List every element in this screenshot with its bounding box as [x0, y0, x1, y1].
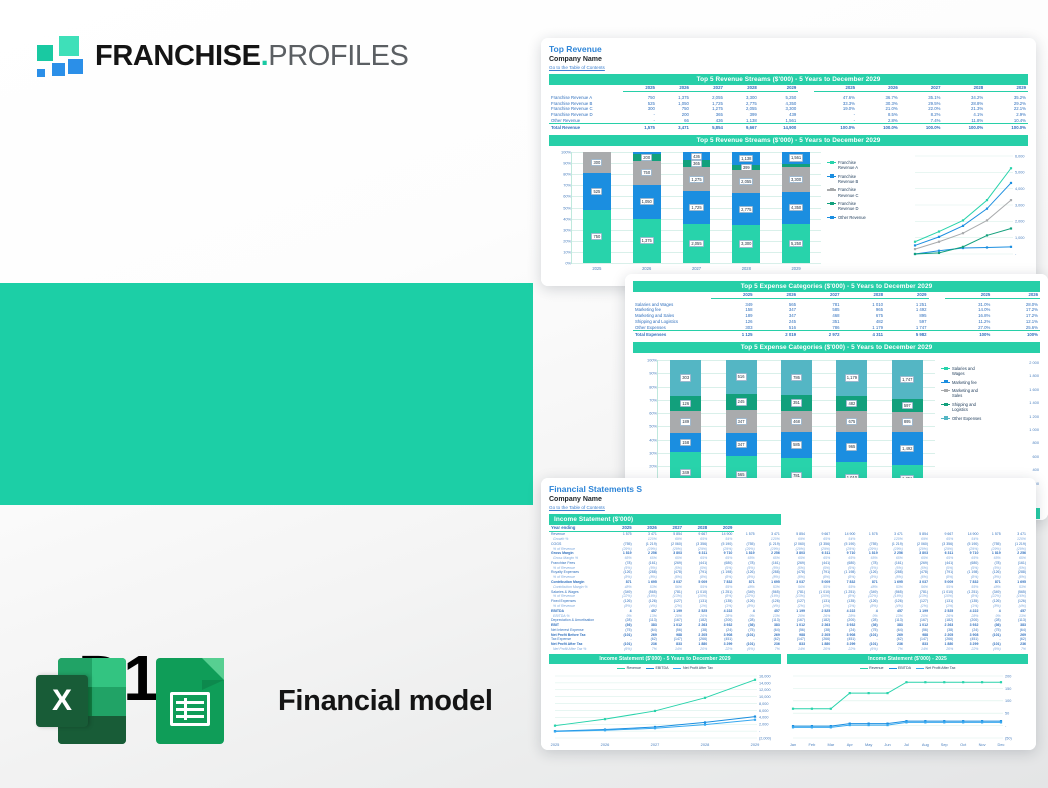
y-axis-tick: 60%: [557, 194, 571, 199]
legend-label: Other Revenue: [838, 215, 866, 220]
table-cell: 14%: [782, 647, 807, 652]
y-axis-tick: 70%: [557, 183, 571, 188]
bar-segment: 436: [683, 152, 711, 160]
x-axis-tick: 2026: [601, 742, 610, 747]
bar-stack: 4363651,2751,7252,055: [683, 152, 711, 263]
x-axis-tick: 2029: [751, 742, 760, 747]
line-marker: [554, 731, 556, 733]
y-axis-tick: 1 400: [1013, 400, 1039, 405]
bar-segment: 2,775: [732, 193, 760, 225]
bar-data-label: 126: [680, 400, 691, 407]
bar-segment: 303: [670, 360, 701, 396]
x-axis-tick: Mar: [827, 742, 834, 747]
y-axis-tick: 40%: [557, 216, 571, 221]
line-marker: [754, 679, 756, 681]
bar-segment: 189: [670, 411, 701, 433]
x-axis-tick: 2029: [771, 266, 821, 271]
expenses-chart-legend: Salaries and WagesMarketing feeMarketing…: [941, 366, 984, 424]
line-marker: [754, 716, 756, 718]
y-axis-tick: 20%: [557, 238, 571, 243]
y-axis-tick: 6,000: [759, 709, 769, 713]
legend-marker: [673, 668, 681, 669]
bar-segment: 4,350: [782, 192, 810, 224]
legend-item: Marketing fee: [941, 380, 984, 385]
bar-data-label: 1,375: [640, 237, 654, 244]
bar-segment: 786: [781, 360, 812, 395]
legend-marker: [827, 174, 836, 179]
line-series: [555, 680, 755, 726]
x-axis-tick: 2025: [572, 266, 622, 271]
y-axis-tick: 14,000: [759, 682, 771, 686]
y-axis-tick: 16,000: [759, 675, 771, 679]
line-marker: [962, 225, 964, 227]
bar-data-label: 189: [680, 418, 691, 425]
table-cell: (6%): [611, 647, 634, 652]
y-axis-tick: 70%: [643, 397, 657, 402]
y-axis-tick: 10,000: [759, 695, 771, 699]
bar-data-label: 3,300: [739, 240, 753, 247]
bar-segment: 300: [583, 152, 611, 173]
y-axis-tick: 400: [1013, 467, 1039, 472]
bar-segment: 365: [683, 160, 711, 167]
financials-right-chart-legend: RevenueEBITDANet Profit After Tax: [787, 666, 1028, 670]
bar-segment: 347: [726, 410, 757, 433]
table-cell: 20%: [807, 647, 832, 652]
bar-data-label: 1,050: [640, 198, 654, 205]
legend-item: Salaries and Wages: [941, 366, 984, 376]
bar-data-label: 750: [641, 169, 652, 176]
bar-data-label: 4,350: [789, 204, 803, 211]
line-marker: [986, 246, 988, 248]
bar-segment: 482: [836, 396, 867, 411]
table-cell: 7%: [880, 647, 905, 652]
legend-item: Net Profit After Tax: [673, 666, 712, 670]
legend-item: Franchise Revenue C: [827, 187, 870, 197]
y-axis-tick: 2,000: [759, 723, 769, 727]
bar-segment: 1,375: [633, 219, 661, 263]
line-series: [915, 200, 1011, 249]
financials-sheet-title: Financial Statements S: [549, 484, 1028, 495]
line-series: [793, 683, 1001, 710]
bar-segment: 1,179: [836, 360, 867, 396]
line-marker: [905, 722, 907, 724]
y-axis-tick: 2,000: [1015, 220, 1025, 224]
bar-segment: 351: [781, 395, 812, 411]
line-chart-canvas: -1,0002,0003,0004,0005,0006,000: [899, 152, 1031, 264]
line-marker: [943, 722, 945, 724]
expenses-table: 20252026 20272028 2029 20252026 Salaries…: [633, 292, 1040, 337]
bar-data-label: 482: [846, 400, 857, 407]
line-marker: [938, 250, 940, 252]
bar-data-label: 1,725: [689, 204, 703, 211]
y-axis-tick: 150: [1005, 687, 1011, 691]
financials-left-chart-region: Income Statement ($'000) - 5 Years to De…: [549, 654, 781, 748]
line-marker: [914, 253, 916, 255]
microsoft-excel-icon: X: [36, 658, 126, 744]
line-chart-canvas: (50)-50100150200JanFebMarAprMayJunJulAug…: [787, 672, 1023, 748]
table-cell: 7%: [1003, 647, 1028, 652]
y-axis-tick: (50): [1005, 737, 1012, 741]
bar-segment: 750: [583, 210, 611, 263]
bar-data-label: 1,138: [739, 155, 753, 162]
bar-data-label: 2,055: [739, 178, 753, 185]
line-marker: [849, 724, 851, 726]
revenue-charts-region: 100%90%80%70%60%50%40%30%20%10%0%3005257…: [549, 150, 1028, 276]
bar-data-label: 1,561: [789, 154, 803, 161]
legend-label: Net Profit After Tax: [925, 666, 955, 670]
legend-label: Revenue: [869, 666, 883, 670]
line-marker: [830, 727, 832, 729]
bar-data-label: 525: [591, 188, 602, 195]
line-marker: [886, 692, 888, 694]
legend-marker: [860, 668, 868, 669]
legend-item: Franchise Revenue B: [827, 174, 870, 184]
legend-label: Franchise Revenue D: [838, 201, 870, 211]
y-axis-tick: 200: [1005, 675, 1011, 679]
legend-marker: [646, 668, 654, 669]
line-marker: [924, 722, 926, 724]
bar-segment: 965: [836, 432, 867, 462]
bar-data-label: 347: [736, 441, 747, 448]
line-marker: [981, 722, 983, 724]
line-marker: [704, 697, 706, 699]
bar-data-label: 245: [736, 398, 747, 405]
line-marker: [1010, 246, 1012, 248]
bar-segment: 1,725: [683, 191, 711, 224]
y-axis-tick: 80%: [643, 384, 657, 389]
bar-segment: 347: [726, 433, 757, 456]
x-axis-tick: Jan: [790, 742, 796, 747]
line-marker: [868, 724, 870, 726]
bar-data-label: 750: [591, 233, 602, 240]
logo-square-blue-small: [37, 69, 45, 77]
bar-stack: 1,1794826759651,010: [836, 360, 867, 493]
y-axis-tick: 30%: [557, 227, 571, 232]
legend-item: EBITDA: [646, 666, 668, 670]
bar-data-label: 158: [680, 439, 691, 446]
line-marker: [554, 725, 556, 727]
bar-data-label: 3,300: [789, 176, 803, 183]
logo-square-teal-top: [59, 36, 79, 56]
bar-segment: 5,250: [782, 224, 810, 263]
bar-segment: 2,055: [683, 224, 711, 263]
revenue-stacked-bar-chart: 100%90%80%70%60%50%40%30%20%10%0%3005257…: [571, 152, 821, 264]
table-cell: 7%: [634, 647, 659, 652]
revenue-toc-link[interactable]: Go to the Table of Contents: [549, 64, 1028, 71]
row-label: Net Profit After Tax %: [549, 647, 611, 652]
x-axis-tick: 2028: [721, 266, 771, 271]
legend-marker: [889, 668, 897, 669]
line-marker: [830, 708, 832, 710]
legend-item: Net Profit After Tax: [916, 666, 955, 670]
table-cell: 20%: [684, 647, 709, 652]
bar-data-label: 675: [846, 418, 857, 425]
table-cell: 7%: [757, 647, 782, 652]
line-marker: [938, 230, 940, 232]
bar-data-label: 1,492: [900, 445, 914, 452]
squares-logo-icon: [33, 33, 89, 79]
legend-label: Revenue: [627, 666, 641, 670]
financials-sheet-card[interactable]: Financial Statements S Company Name Go t…: [541, 478, 1036, 750]
legend-marker: [941, 416, 950, 421]
line-marker: [1010, 199, 1012, 201]
financials-left-chart-banner: Income Statement ($'000) - 5 Years to De…: [549, 654, 781, 664]
y-axis-tick: 50%: [643, 424, 657, 429]
expenses-chart-banner: Top 5 Expense Categories ($'000) - 5 Yea…: [633, 342, 1040, 353]
financials-left-line-chart: (2,000)-2,0004,0006,0008,00010,00012,000…: [549, 672, 781, 748]
y-axis-tick: 90%: [643, 371, 657, 376]
legend-marker: [827, 215, 836, 220]
y-axis-tick: -: [1015, 252, 1017, 256]
table-cell: 22%: [832, 647, 857, 652]
legend-item: Revenue: [860, 666, 884, 670]
y-axis-tick: 100: [1005, 700, 1011, 704]
bar-segment: 1,747: [892, 360, 923, 399]
y-axis-tick: 0%: [557, 261, 571, 266]
table-cell: (6%): [980, 647, 1002, 652]
revenue-line-chart: -1,0002,0003,0004,0005,0006,000: [899, 152, 1031, 264]
financials-left-chart-legend: RevenueEBITDANet Profit After Tax: [549, 666, 781, 670]
gridline: [572, 263, 821, 264]
bar-stack: 300525750: [583, 152, 611, 263]
brand-name-strong: FRANCHISE: [95, 40, 261, 72]
revenue-chart-banner: Top 5 Revenue Streams ($'000) - 5 Years …: [549, 135, 1028, 146]
line-marker: [849, 692, 851, 694]
bar-segment: 1,561: [782, 152, 810, 164]
x-axis-tick: 2027: [672, 266, 722, 271]
y-axis-tick: 4,000: [1015, 187, 1025, 191]
x-axis-tick: Sep: [941, 742, 948, 747]
line-marker: [914, 248, 916, 250]
expenses-table-banner: Top 5 Expense Categories ($'000) - 5 Yea…: [633, 281, 1040, 292]
footer-format-row: X Financial model: [36, 658, 493, 744]
bar-data-label: 2,775: [739, 206, 753, 213]
legend-label: EBITDA: [898, 666, 911, 670]
logo-square-teal-left: [37, 45, 53, 61]
brand-logo: FRANCHISE.PROFILES: [33, 33, 413, 79]
bar-stack: 1,5613,3004,3505,250: [782, 152, 810, 263]
legend-marker: [941, 388, 950, 393]
bar-segment: 895: [892, 412, 923, 432]
x-axis-tick: Jun: [884, 742, 890, 747]
y-axis-tick: 5,000: [1015, 171, 1025, 175]
y-axis-tick: 600: [1013, 454, 1039, 459]
bar-data-label: 347: [736, 418, 747, 425]
line-marker: [792, 727, 794, 729]
line-marker: [811, 708, 813, 710]
legend-marker: [941, 366, 950, 371]
bar-segment: 525: [583, 173, 611, 210]
legend-marker: [827, 187, 836, 192]
line-marker: [654, 710, 656, 712]
y-axis-tick: 3,000: [1015, 203, 1025, 207]
y-axis-tick: 2 000: [1013, 360, 1039, 365]
table-cell: 14%: [659, 647, 684, 652]
line-marker: [986, 199, 988, 201]
table-total-row: Total Expenses 1 1252 019 2 9724 311 5 9…: [633, 331, 1040, 337]
legend-label: Franchise Revenue B: [838, 174, 870, 184]
x-axis-tick: May: [865, 742, 872, 747]
bar-data-label: 349: [680, 469, 691, 476]
line-marker: [943, 681, 945, 683]
y-axis-tick: 1 000: [1013, 427, 1039, 432]
legend-item: Shipping and Logistics: [941, 402, 984, 412]
line-marker: [1000, 681, 1002, 683]
legend-marker: [617, 668, 625, 669]
x-axis-tick: 2025: [551, 742, 560, 747]
bar-data-label: 585: [791, 441, 802, 448]
line-marker: [962, 246, 964, 248]
bar-data-label: 2,055: [689, 240, 703, 247]
revenue-table-banner: Top 5 Revenue Streams ($'000) - 5 Years …: [549, 74, 1028, 85]
x-axis-tick: Apr: [847, 742, 854, 747]
financials-table-banner: Income Statement ($'000): [549, 514, 781, 525]
line-marker: [938, 252, 940, 254]
legend-marker: [941, 380, 950, 385]
financials-company-name: Company Name: [549, 495, 1028, 504]
revenue-sheet-card[interactable]: Top Revenue Company Name Go to the Table…: [541, 38, 1036, 286]
line-marker: [962, 722, 964, 724]
line-marker: [986, 234, 988, 236]
logo-square-blue-right: [68, 59, 83, 74]
bar-data-label: 1,179: [845, 374, 859, 381]
table-cell: (6%): [734, 647, 756, 652]
financials-right-chart-region: Income Statement ($'000) - 2025 RevenueE…: [787, 654, 1028, 748]
x-axis-tick: Oct: [960, 742, 967, 747]
bar-segment: 1,275: [683, 167, 711, 191]
legend-label: EBITDA: [656, 666, 669, 670]
table-cell: 14%: [905, 647, 930, 652]
line-marker: [914, 241, 916, 243]
y-axis-tick: (2,000): [759, 737, 772, 741]
y-axis-tick: 10%: [557, 249, 571, 254]
y-axis-tick: 6,000: [1015, 154, 1025, 158]
line-marker: [986, 219, 988, 221]
x-axis-tick: Dec: [998, 742, 1005, 747]
line-marker: [868, 692, 870, 694]
revenue-company-name: Company Name: [549, 55, 1028, 64]
line-chart-canvas: (2,000)-2,0004,0006,0008,00010,00012,000…: [549, 672, 781, 748]
bar-stack: 303126189158349: [670, 360, 701, 493]
legend-label: Franchise Revenue A: [838, 160, 870, 170]
revenue-sheet-title: Top Revenue: [549, 44, 1028, 55]
bar-segment: 2,055: [732, 170, 760, 194]
line-marker: [924, 681, 926, 683]
line-marker: [1010, 182, 1012, 184]
legend-marker: [827, 201, 836, 206]
bar-stack: 1,7475978951,4921,251: [892, 360, 923, 493]
excel-x-glyph: X: [52, 686, 72, 716]
y-axis-tick: -: [759, 730, 761, 734]
bar-data-label: 1,275: [689, 176, 703, 183]
legend-label: Shipping and Logistics: [952, 402, 984, 412]
legend-item: Marketing and Sales: [941, 388, 984, 398]
x-axis-tick: Jul: [904, 742, 909, 747]
bar-stack: 516245347347565: [726, 360, 757, 493]
y-axis-tick: 30%: [643, 451, 657, 456]
google-sheets-icon: [150, 658, 240, 744]
line-marker: [1010, 167, 1012, 169]
logo-square-blue-mid: [52, 63, 65, 76]
bar-data-label: 303: [680, 374, 691, 381]
line-marker: [914, 244, 916, 246]
revenue-chart-legend: Franchise Revenue AFranchise Revenue BFr…: [827, 160, 870, 223]
line-marker: [962, 681, 964, 683]
y-axis-tick: 1,000: [1015, 236, 1025, 240]
legend-item: Revenue: [617, 666, 641, 670]
bar-segment: 3,300: [732, 225, 760, 263]
y-axis-tick: 8,000: [759, 702, 769, 706]
legend-item: Franchise Revenue A: [827, 160, 870, 170]
bar-data-label: 300: [591, 159, 602, 166]
x-axis-tick: Aug: [922, 742, 929, 747]
x-axis-tick: 2028: [701, 742, 710, 747]
table-total-row: Total Revenue 1,5753,471 5,8549,667 14,9…: [549, 124, 1028, 130]
expenses-secondary-axis: 2 0001 8001 6001 4001 2001 0008006004002…: [1011, 360, 1039, 494]
bar-segment: 585: [781, 432, 812, 458]
bar-data-label: 436: [691, 153, 702, 160]
line-marker: [962, 219, 964, 221]
financials-monthly-line-chart: (50)-50100150200JanFebMarAprMayJunJulAug…: [787, 672, 1023, 748]
legend-item: Franchise Revenue D: [827, 201, 870, 211]
legend-label: Marketing and Sales: [952, 388, 984, 398]
legend-marker: [827, 160, 836, 165]
y-axis-tick: 1 200: [1013, 414, 1039, 419]
bar-data-label: 468: [791, 418, 802, 425]
y-axis-tick: 100%: [557, 150, 571, 155]
financials-right-chart-banner: Income Statement ($'000) - 2025: [787, 654, 1028, 664]
y-axis-tick: 4,000: [759, 716, 769, 720]
bar-data-label: 351: [791, 399, 802, 406]
bar-stack: 1,1383992,0552,7753,300: [732, 152, 760, 263]
legend-item: EBITDA: [889, 666, 911, 670]
y-axis-tick: 100%: [643, 357, 657, 362]
y-axis-tick: 1 800: [1013, 373, 1039, 378]
legend-label: Salaries and Wages: [952, 366, 984, 376]
legend-item: Other Expenses: [941, 416, 984, 421]
x-axis-tick: Feb: [809, 742, 816, 747]
x-axis-tick: 2027: [651, 742, 660, 747]
legend-label: Net Profit After Tax: [683, 666, 713, 670]
bar-data-label: 5,250: [789, 240, 803, 247]
line-marker: [962, 232, 964, 234]
bar-stack: 786351468585781: [781, 360, 812, 493]
bar-data-label: 597: [902, 402, 913, 409]
bar-stack: 2007501,0501,375: [633, 152, 661, 263]
line-marker: [604, 730, 606, 732]
bar-segment: 1,050: [633, 185, 661, 219]
bar-data-label: 965: [846, 443, 857, 450]
financials-toc-link[interactable]: Go to the Table of Contents: [549, 504, 1028, 511]
y-axis-tick: -: [1005, 724, 1007, 728]
table-cell: 22%: [709, 647, 734, 652]
expenses-stacked-bar-chart: 100%90%80%70%60%50%40%30%20%10%0%3031261…: [657, 360, 935, 494]
income-statement-table: Year ending20252026202720282029 Revenue1…: [549, 525, 1028, 651]
legend-marker: [941, 402, 950, 407]
table-cell: (6%): [857, 647, 879, 652]
y-axis-tick: 60%: [643, 411, 657, 416]
x-axis-tick: 2026: [622, 266, 672, 271]
legend-label: Marketing fee: [952, 380, 977, 385]
bar-segment: 597: [892, 399, 923, 412]
revenue-table: 2025 2026 2027 2028 2029 2025 2026 2027 …: [549, 85, 1028, 130]
bar-data-label: 565: [736, 471, 747, 478]
line-marker: [754, 719, 756, 721]
line-marker: [1000, 722, 1002, 724]
line-marker: [905, 681, 907, 683]
bar-segment: 516: [726, 360, 757, 394]
bar-segment: 3,300: [782, 167, 810, 192]
